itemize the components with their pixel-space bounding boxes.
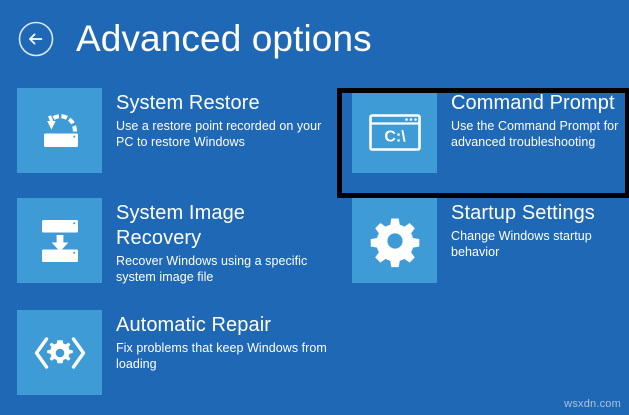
option-text: Automatic Repair Fix problems that keep … bbox=[116, 310, 332, 372]
option-description: Use the Command Prompt for advanced trou… bbox=[451, 118, 627, 150]
option-text: System Image Recovery Recover Windows us… bbox=[116, 198, 332, 285]
header: Advanced options bbox=[0, 0, 629, 78]
option-title: Command Prompt bbox=[451, 91, 627, 116]
watermark: wsxdn.com bbox=[564, 398, 621, 410]
option-text: Startup Settings Change Windows startup … bbox=[451, 198, 627, 260]
option-text: System Restore Use a restore point recor… bbox=[116, 88, 332, 150]
page-title: Advanced options bbox=[76, 17, 372, 61]
option-title: Automatic Repair bbox=[116, 313, 332, 338]
option-description: Use a restore point recorded on your PC … bbox=[116, 118, 332, 150]
option-system-image-recovery[interactable]: System Image Recovery Recover Windows us… bbox=[17, 198, 332, 285]
command-prompt-icon: C:\ bbox=[352, 88, 437, 173]
options-grid: System Restore Use a restore point recor… bbox=[0, 88, 629, 415]
system-restore-icon bbox=[17, 88, 102, 173]
startup-settings-gear-icon bbox=[352, 198, 437, 283]
option-startup-settings[interactable]: Startup Settings Change Windows startup … bbox=[352, 198, 627, 283]
option-description: Fix problems that keep Windows from load… bbox=[116, 340, 332, 372]
back-arrow-circle-icon[interactable] bbox=[17, 20, 55, 58]
automatic-repair-icon bbox=[17, 310, 102, 395]
option-automatic-repair[interactable]: Automatic Repair Fix problems that keep … bbox=[17, 310, 332, 395]
option-system-restore[interactable]: System Restore Use a restore point recor… bbox=[17, 88, 332, 173]
option-title: Startup Settings bbox=[451, 201, 627, 226]
option-title: System Image Recovery bbox=[116, 201, 332, 251]
option-description: Change Windows startup behavior bbox=[451, 228, 627, 260]
advanced-options-screen: Advanced options bbox=[0, 0, 629, 415]
option-title: System Restore bbox=[116, 91, 332, 116]
option-text: Command Prompt Use the Command Prompt fo… bbox=[451, 88, 627, 150]
command-prompt-icon-text: C:\ bbox=[384, 128, 406, 145]
option-description: Recover Windows using a specific system … bbox=[116, 253, 332, 285]
option-command-prompt[interactable]: C:\ Command Prompt Use the Command Promp… bbox=[352, 88, 627, 173]
system-image-recovery-icon bbox=[17, 198, 102, 283]
